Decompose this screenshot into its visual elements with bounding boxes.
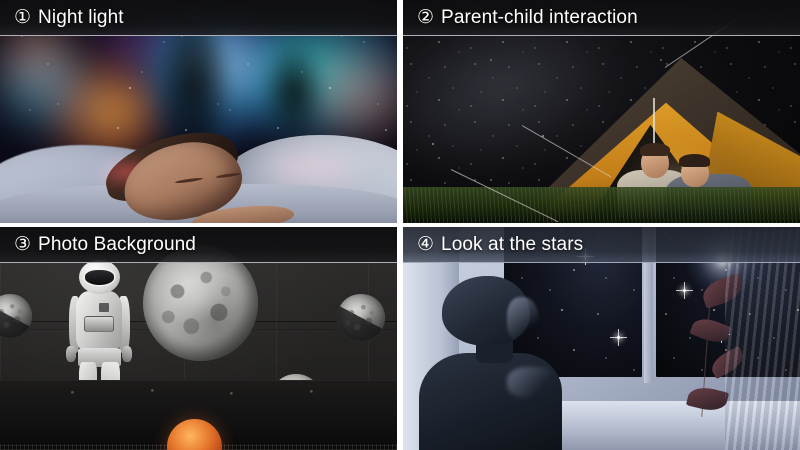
moon-right-shadow [337,294,385,341]
scene-night-light-bedroom [0,0,397,223]
panel-photo-background[interactable]: ③ Photo Background [0,227,397,450]
projected-moon-right [337,294,385,341]
astronaut-visor [85,270,114,284]
plant-leaf [686,383,729,414]
window-curtain [725,227,800,450]
astronaut-glove-right [122,346,132,362]
parent-hair [640,143,670,156]
scene-astronaut-wall [0,227,397,450]
bright-star [617,336,620,339]
panel-look-at-the-stars[interactable]: ④ Look at the stars [403,227,800,450]
scene-camping-tent [403,0,800,223]
bolt [151,389,154,392]
bolt [310,390,313,393]
boy-shoulder-highlight [507,367,556,398]
projected-moon-large [143,245,258,361]
astronaut-chest-pack [84,316,114,332]
bright-star [584,255,587,258]
boy-face-rim-light [507,297,538,342]
feature-collage: ① Night light [0,0,800,450]
panel-parent-child-interaction[interactable]: ② Parent-child interaction [403,0,800,223]
window-mullion [644,227,653,383]
bolt [71,391,74,394]
child-hair [679,154,710,167]
astronaut-glove-left [66,346,76,362]
grass-ground [403,187,800,223]
bolt [230,392,233,395]
astronaut-badge [99,303,109,312]
bed [0,94,397,223]
scene-boy-at-window [403,227,800,450]
boy-silhouette [419,276,562,450]
grass-texture [403,187,800,223]
panel-night-light[interactable]: ① Night light [0,0,397,223]
